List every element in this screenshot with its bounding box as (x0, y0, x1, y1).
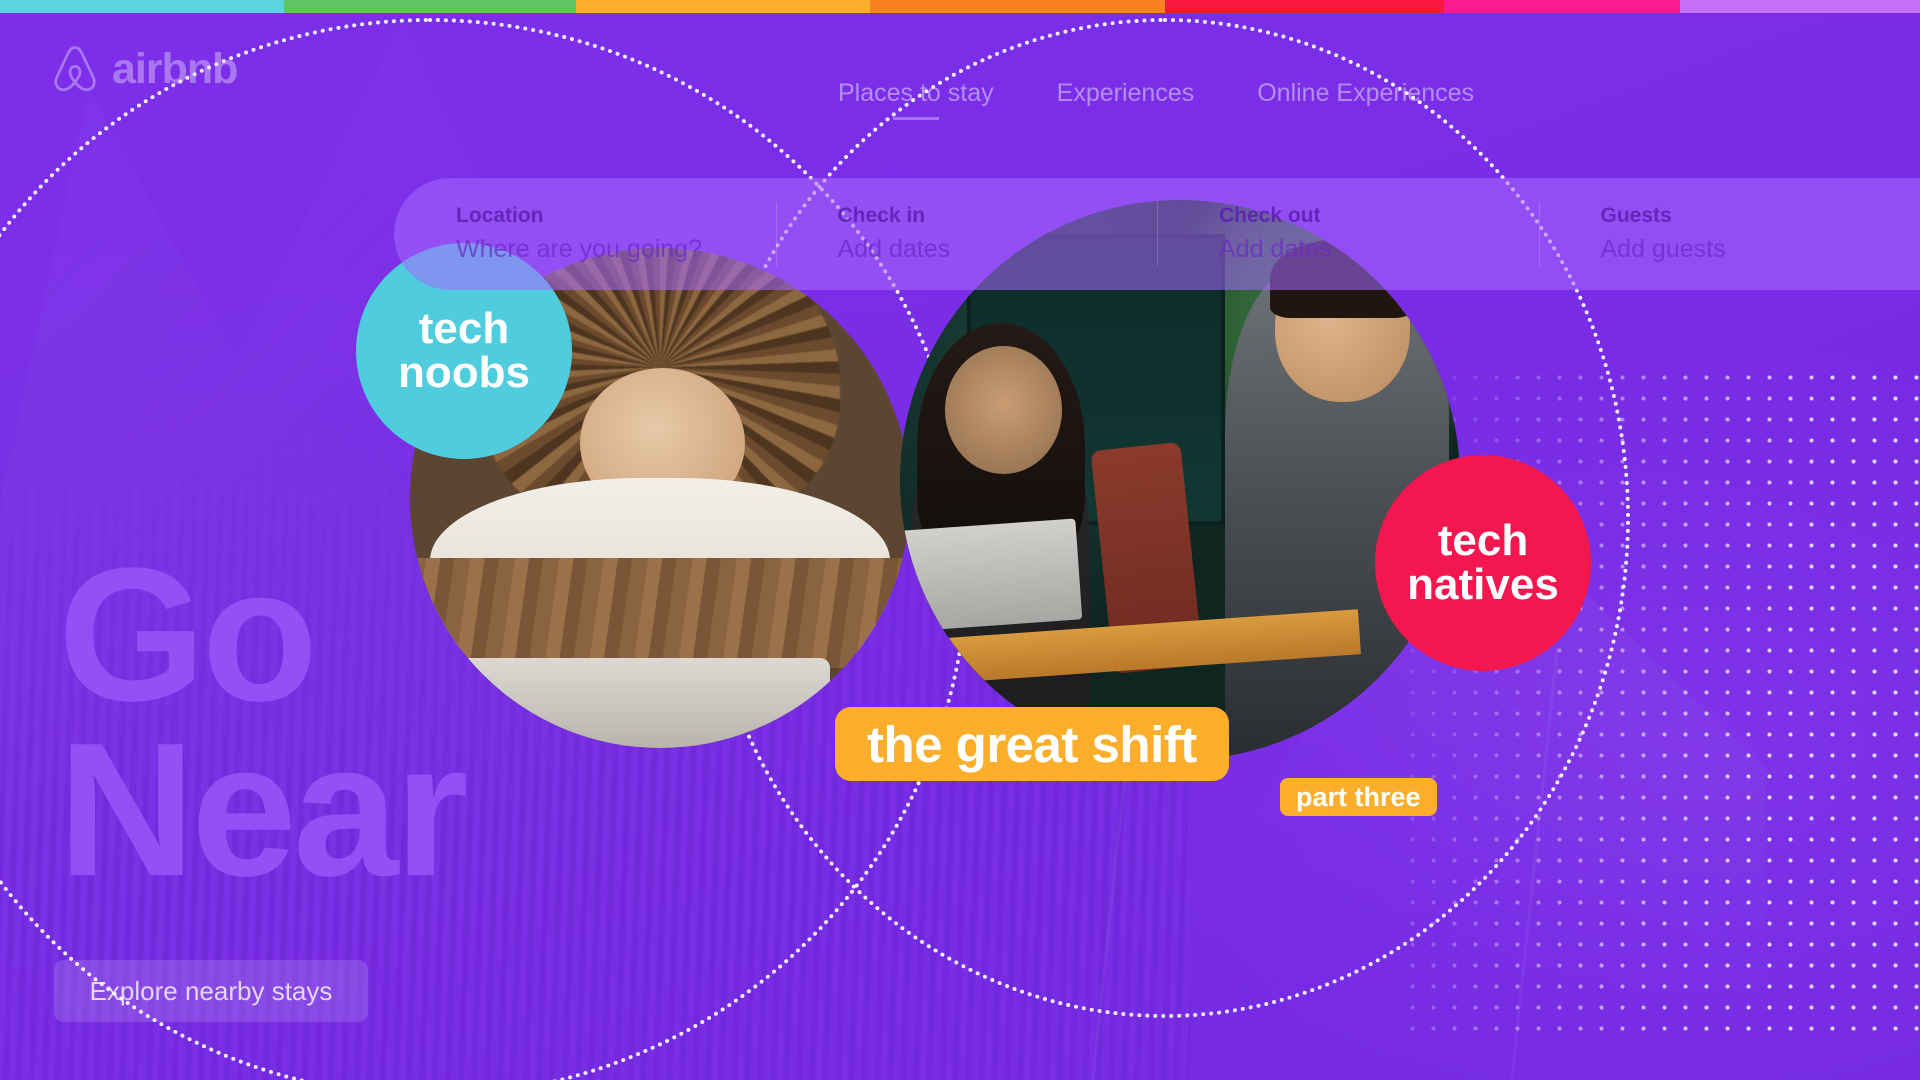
hero-line-1: Go (58, 548, 465, 723)
great-shift-banner-title: the great shift (867, 715, 1197, 774)
search-field-label: Check out (1219, 204, 1539, 228)
photo-left-table (410, 558, 910, 668)
bubble-tech-natives-line-1: tech (1407, 519, 1559, 563)
search-bar[interactable]: LocationWhere are you going?Check inAdd … (394, 178, 1920, 290)
top-color-strip (0, 0, 1920, 13)
search-field-value: Where are you going? (456, 235, 776, 264)
search-field-check-out[interactable]: Check outAdd dates (1157, 198, 1539, 270)
color-strip-swatch-orange (870, 0, 1166, 13)
hero-headline: Go Near (58, 548, 465, 898)
explore-button-label: Explore nearby stays (90, 976, 333, 1007)
search-field-label: Guests (1601, 204, 1920, 228)
great-shift-banner: the great shift (835, 707, 1229, 781)
color-strip-swatch-green (284, 0, 576, 13)
search-field-value: Add dates (838, 235, 1158, 264)
bubble-tech-natives-line-2: natives (1407, 563, 1559, 607)
search-field-location[interactable]: LocationWhere are you going? (394, 198, 776, 270)
search-field-guests[interactable]: GuestsAdd guests (1539, 198, 1920, 270)
bubble-tech-noobs-line-2: noobs (398, 351, 530, 395)
nav-item-places-to-stay[interactable]: Places to stay (838, 79, 994, 122)
main-navigation: Places to stayExperiencesOnline Experien… (838, 79, 1474, 122)
bubble-tech-noobs-line-1: tech (398, 307, 530, 351)
search-field-value: Add dates (1219, 235, 1539, 264)
color-strip-swatch-amber (576, 0, 870, 13)
hero-line-2: Near (58, 723, 465, 898)
nav-item-experiences[interactable]: Experiences (1057, 79, 1195, 122)
airbnb-wordmark: airbnb (112, 45, 237, 94)
search-field-label: Check in (838, 204, 1158, 228)
part-three-badge: part three (1280, 778, 1437, 816)
part-three-label: part three (1296, 782, 1421, 813)
bubble-tech-natives: tech natives (1375, 455, 1591, 671)
photo-right-laptop (900, 518, 1082, 632)
airbnb-logo[interactable]: airbnb (52, 44, 237, 94)
photo-left-laptop (440, 658, 830, 748)
airbnb-belo-icon (52, 44, 98, 94)
search-field-value: Add guests (1601, 235, 1920, 264)
explore-nearby-stays-button[interactable]: Explore nearby stays (54, 960, 368, 1022)
search-field-label: Location (456, 204, 776, 228)
photo-right-woman-head (945, 346, 1063, 475)
color-strip-swatch-magenta (1444, 0, 1680, 13)
color-strip-swatch-cyan (0, 0, 284, 13)
nav-item-online-experiences[interactable]: Online Experiences (1257, 79, 1474, 122)
site-header: airbnb Places to stayExperiencesOnline E… (0, 13, 1920, 125)
color-strip-swatch-red (1165, 0, 1443, 13)
color-strip-swatch-violet-light (1680, 0, 1920, 13)
search-field-check-in[interactable]: Check inAdd dates (776, 198, 1158, 270)
